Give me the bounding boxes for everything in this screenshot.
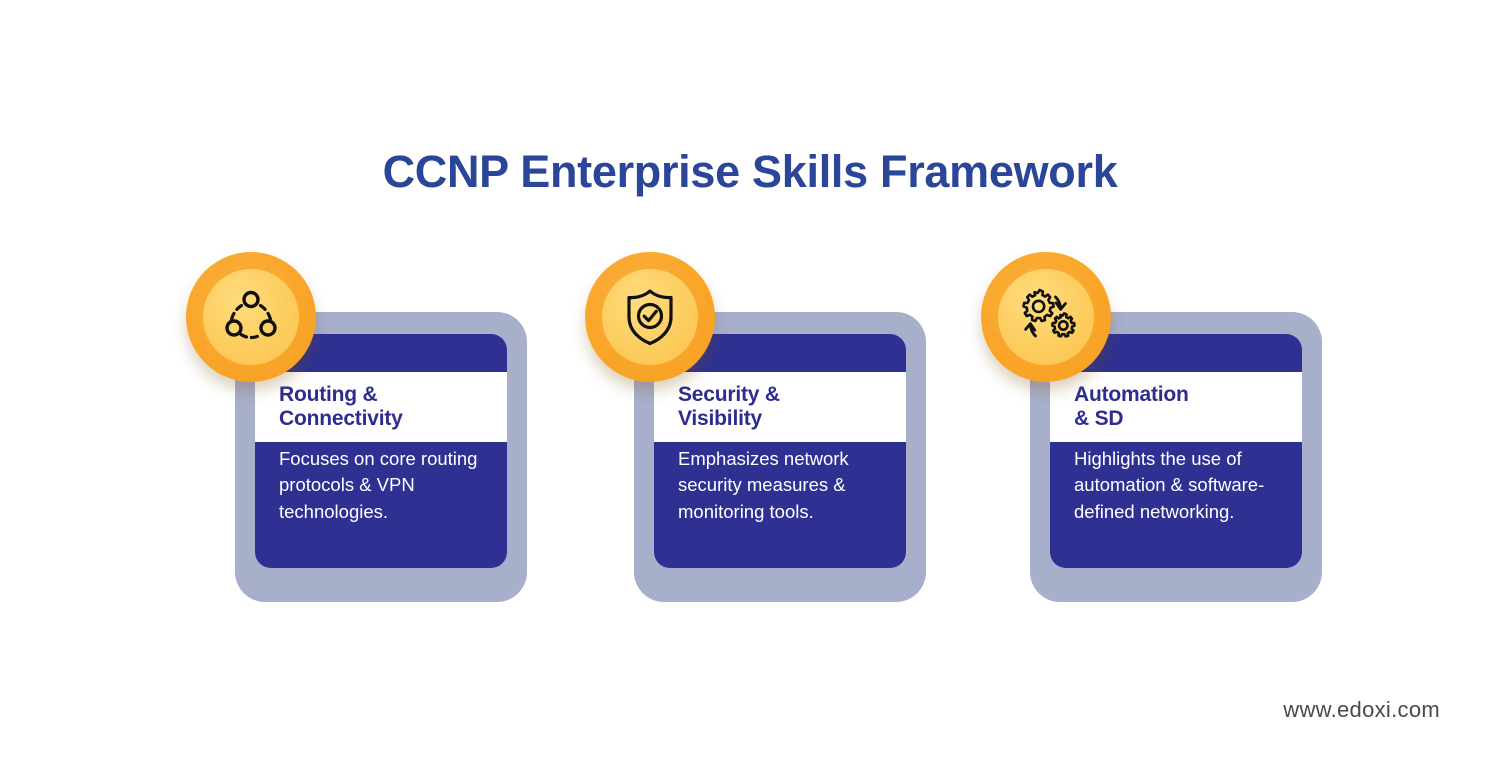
card-inner: Routing & Connectivity Focuses on core r…: [255, 334, 507, 568]
card-header-band: Routing & Connectivity: [255, 372, 507, 442]
network-nodes-icon: [186, 252, 316, 382]
card-inner: Automation & SD Highlights the use of au…: [1050, 334, 1302, 568]
card-routing-connectivity[interactable]: Routing & Connectivity Focuses on core r…: [235, 312, 527, 602]
card-header-band: Automation & SD: [1050, 372, 1302, 442]
gears-cycle-icon: [981, 252, 1111, 382]
card-title-line-1: Automation: [1074, 383, 1189, 406]
card-automation-sd[interactable]: Automation & SD Highlights the use of au…: [1030, 312, 1322, 602]
card-body-text: Focuses on core routing protocols & VPN …: [255, 446, 507, 525]
card-title: Security & Visibility: [654, 383, 790, 430]
shield-check-icon: [585, 252, 715, 382]
card-header-band: Security & Visibility: [654, 372, 906, 442]
card-title-line-2: Visibility: [678, 407, 762, 430]
card-title-line-1: Security &: [678, 383, 780, 406]
card-inner: Security & Visibility Emphasizes network…: [654, 334, 906, 568]
card-title: Automation & SD: [1050, 383, 1199, 430]
card-body-text: Highlights the use of automation & softw…: [1050, 446, 1302, 525]
card-title-line-2: & SD: [1074, 407, 1123, 430]
card-security-visibility[interactable]: Security & Visibility Emphasizes network…: [634, 312, 926, 602]
card-title: Routing & Connectivity: [255, 383, 413, 430]
footer-website-url[interactable]: www.edoxi.com: [1283, 697, 1440, 723]
card-title-line-2: Connectivity: [279, 407, 403, 430]
cards-row: Routing & Connectivity Focuses on core r…: [0, 0, 1500, 759]
icon-inner-disc: [998, 269, 1094, 365]
card-body-text: Emphasizes network security measures & m…: [654, 446, 906, 525]
icon-inner-disc: [602, 269, 698, 365]
icon-inner-disc: [203, 269, 299, 365]
card-title-line-1: Routing &: [279, 383, 378, 406]
infographic-canvas: CCNP Enterprise Skills Framework Routing…: [0, 0, 1500, 759]
